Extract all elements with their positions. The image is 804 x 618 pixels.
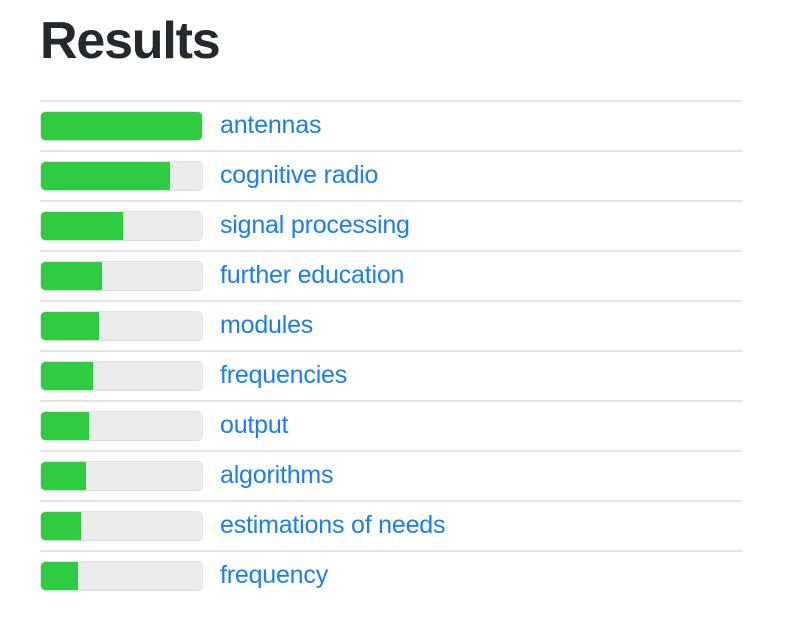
result-progress-fill <box>41 212 123 240</box>
result-row-content: algorithms <box>40 450 804 500</box>
result-row: frequency <box>0 550 804 600</box>
result-progress-fill <box>41 312 99 340</box>
result-progress-fill <box>41 162 170 190</box>
result-row-content: output <box>40 400 804 450</box>
result-row-content: further education <box>40 250 804 300</box>
page-title: Results <box>40 8 219 74</box>
result-label-link[interactable]: estimations of needs <box>220 510 445 540</box>
result-row-content: antennas <box>40 100 804 150</box>
result-progress-bar <box>40 561 203 591</box>
result-label-link[interactable]: signal processing <box>220 210 410 240</box>
result-progress-bar <box>40 111 203 141</box>
result-row: further education <box>0 250 804 300</box>
result-progress-fill <box>41 462 86 490</box>
result-progress-bar <box>40 511 203 541</box>
result-progress-fill <box>41 112 202 140</box>
result-label-link[interactable]: antennas <box>220 110 321 140</box>
result-label-link[interactable]: modules <box>220 310 313 340</box>
result-row: signal processing <box>0 200 804 250</box>
result-label-link[interactable]: frequencies <box>220 360 347 390</box>
result-progress-bar <box>40 261 203 291</box>
result-row: algorithms <box>0 450 804 500</box>
results-list: antennascognitive radiosignal processing… <box>0 100 804 600</box>
result-row-content: frequencies <box>40 350 804 400</box>
result-progress-bar <box>40 411 203 441</box>
result-progress-fill <box>41 412 89 440</box>
result-progress-fill <box>41 262 102 290</box>
result-row: output <box>0 400 804 450</box>
result-row-content: cognitive radio <box>40 150 804 200</box>
result-label-link[interactable]: algorithms <box>220 460 333 490</box>
result-row: modules <box>0 300 804 350</box>
result-label-link[interactable]: output <box>220 410 288 440</box>
result-row-content: modules <box>40 300 804 350</box>
result-row: antennas <box>0 100 804 150</box>
result-label-link[interactable]: frequency <box>220 560 328 590</box>
result-row-content: frequency <box>40 550 804 600</box>
result-row-content: signal processing <box>40 200 804 250</box>
result-row: estimations of needs <box>0 500 804 550</box>
result-row: cognitive radio <box>0 150 804 200</box>
result-progress-fill <box>41 562 78 590</box>
results-page: Results antennascognitive radiosignal pr… <box>0 0 804 618</box>
result-progress-bar <box>40 311 203 341</box>
result-progress-bar <box>40 361 203 391</box>
result-row: frequencies <box>0 350 804 400</box>
result-label-link[interactable]: further education <box>220 260 404 290</box>
result-progress-fill <box>41 512 81 540</box>
result-progress-fill <box>41 362 93 390</box>
result-progress-bar <box>40 211 203 241</box>
result-progress-bar <box>40 161 203 191</box>
result-row-content: estimations of needs <box>40 500 804 550</box>
result-label-link[interactable]: cognitive radio <box>220 160 378 190</box>
result-progress-bar <box>40 461 203 491</box>
